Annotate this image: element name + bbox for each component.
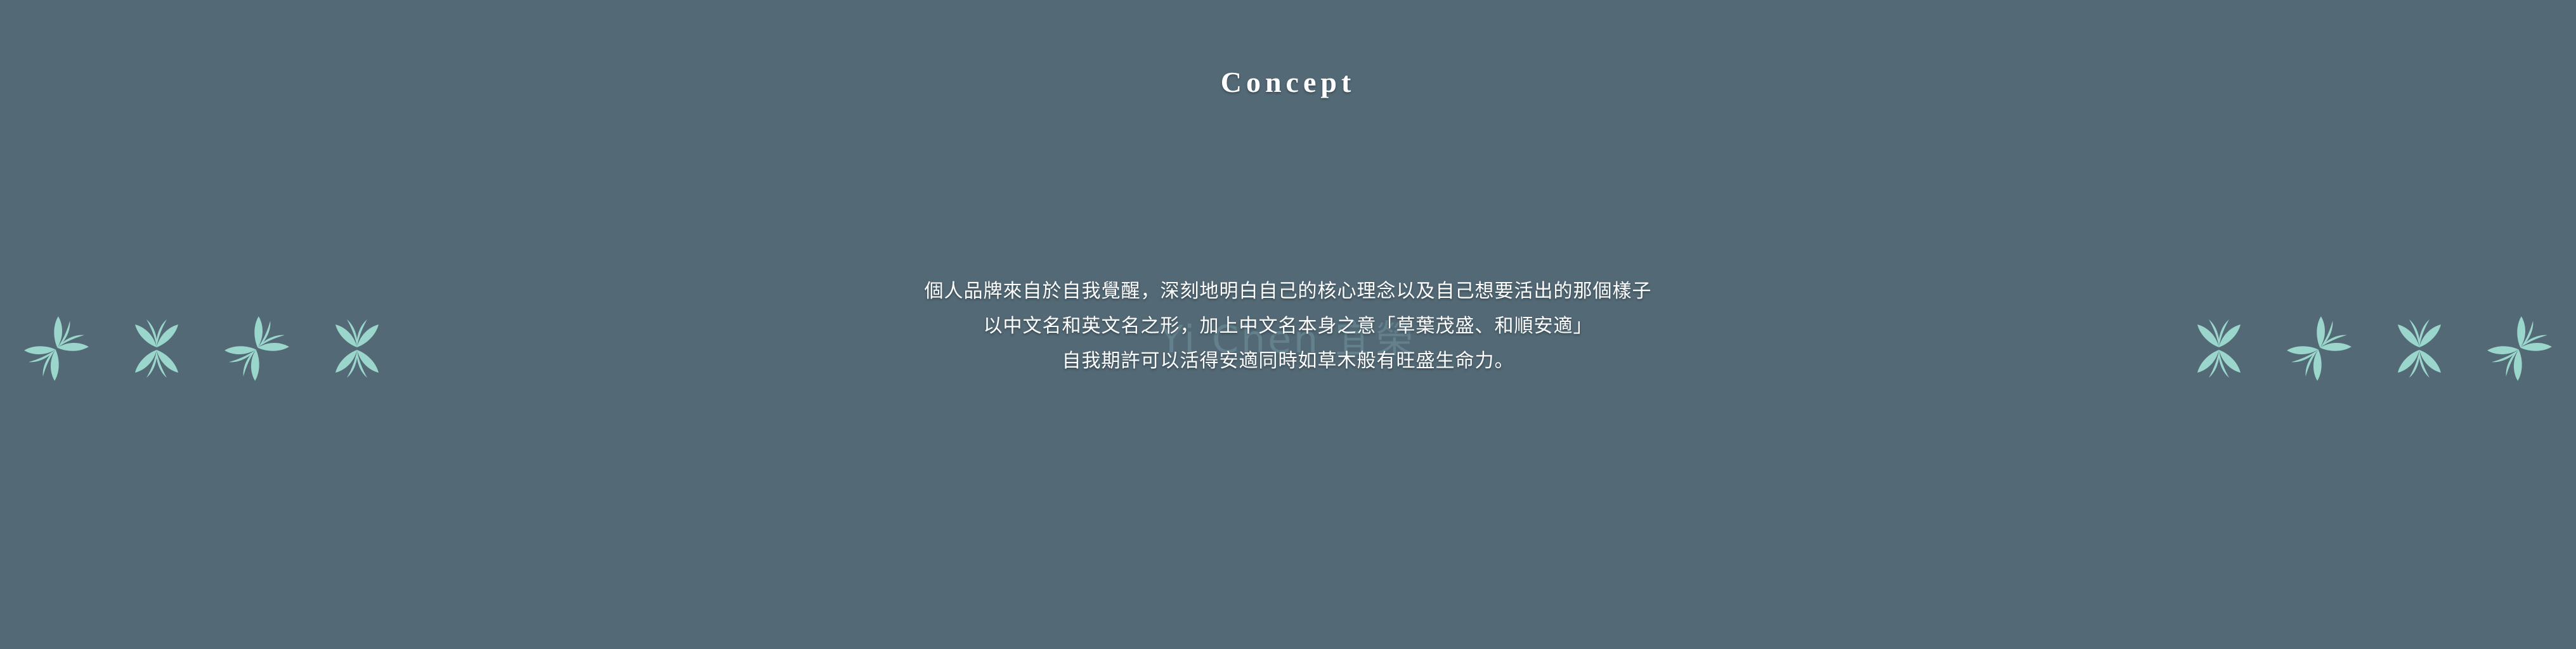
page-title: Concept [0, 65, 2576, 99]
concept-description: 個人品牌來自於自我覺醒，深刻地明白自己的核心理念以及自己想要活出的那個樣子 以中… [0, 274, 2576, 378]
concept-section: Yi Chen 宜榮 Concept 個人品牌來自於自我覺醒，深刻地明白自己的核… [0, 0, 2576, 649]
description-line: 自我期許可以活得安適同時如草木般有旺盛生命力。 [0, 344, 2576, 378]
description-line: 個人品牌來自於自我覺醒，深刻地明白自己的核心理念以及自己想要活出的那個樣子 [0, 274, 2576, 309]
description-line: 以中文名和英文名之形，加上中文名本身之意「草葉茂盛、和順安適」 [0, 309, 2576, 344]
